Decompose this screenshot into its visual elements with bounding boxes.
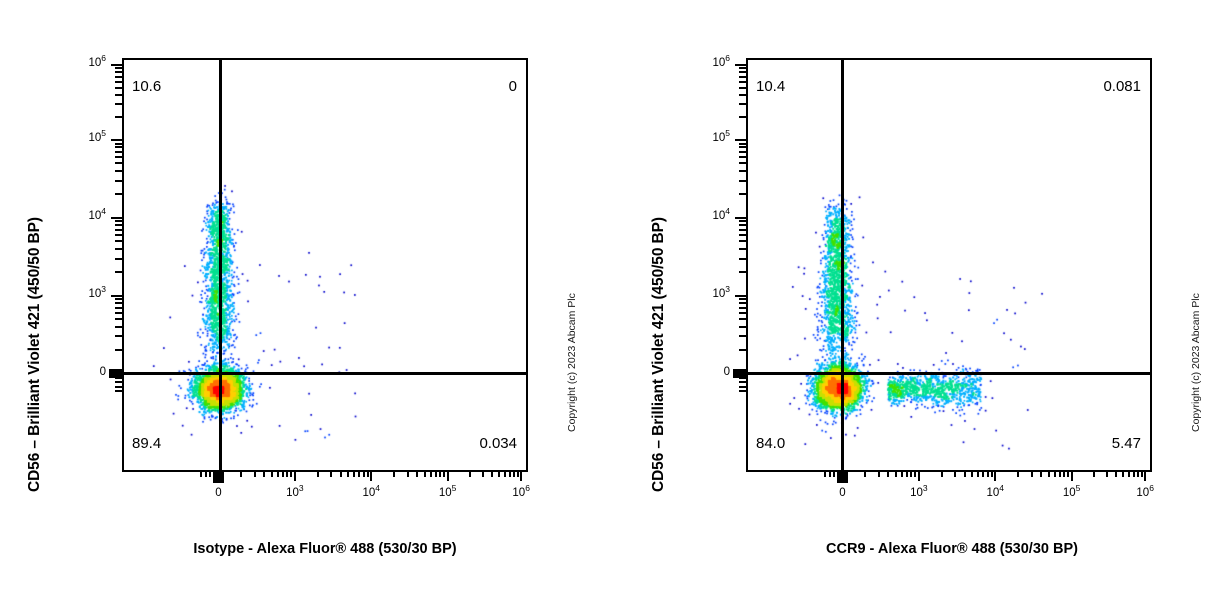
x-tick-10e5 bbox=[1071, 470, 1073, 481]
y-tick-minor bbox=[115, 349, 122, 351]
x-tick-minor bbox=[1115, 470, 1117, 477]
quadrant-stat-lower-right-right: 5.47 bbox=[1112, 435, 1141, 452]
y-tick-minor bbox=[115, 240, 122, 242]
x-tick-minor bbox=[367, 470, 369, 477]
y-tick-minor bbox=[739, 170, 746, 172]
y-tick-minor bbox=[115, 71, 122, 73]
x-tick-label-0: 0 bbox=[198, 487, 238, 499]
y-tick-minor bbox=[115, 76, 122, 78]
x-tick-label-10e5: 105 bbox=[1052, 487, 1092, 499]
x-tick-minor bbox=[290, 470, 292, 477]
scatter-canvas-wrap-left bbox=[124, 60, 526, 470]
y-tick-10e6 bbox=[735, 64, 746, 66]
x-tick-minor bbox=[263, 470, 265, 477]
y-tick-minor bbox=[739, 326, 746, 328]
x-tick-minor bbox=[200, 470, 202, 477]
x-tick-label-10e4: 104 bbox=[351, 487, 391, 499]
y-axis-title-right: CD56 – Brilliant Violet 421 (450/50 BP) bbox=[650, 217, 668, 492]
x-tick-minor bbox=[416, 470, 418, 477]
y-tick-minor bbox=[739, 151, 746, 153]
y-tick-minor bbox=[115, 335, 122, 337]
x-tick-minor bbox=[482, 470, 484, 477]
x-tick-minor bbox=[330, 470, 332, 477]
x-tick-minor bbox=[271, 470, 273, 477]
quadrant-horizontal-line-left bbox=[124, 372, 526, 375]
x-tick-minor bbox=[1067, 470, 1069, 477]
x-tick-minor bbox=[240, 470, 242, 477]
x-tick-minor bbox=[901, 470, 903, 477]
x-tick-10e6 bbox=[520, 470, 522, 481]
x-tick-minor bbox=[878, 470, 880, 477]
x-tick-minor bbox=[282, 470, 284, 477]
x-tick-minor bbox=[977, 470, 979, 477]
y-tick-minor bbox=[115, 162, 122, 164]
x-tick-10e3 bbox=[294, 470, 296, 481]
y-tick-minor bbox=[115, 146, 122, 148]
y-tick-minor bbox=[739, 224, 746, 226]
y-tick-label-10e3: 103 bbox=[694, 288, 730, 300]
x-tick-minor bbox=[1128, 470, 1130, 477]
y-tick-minor bbox=[739, 307, 746, 309]
y-tick-minor bbox=[739, 271, 746, 273]
x-tick-minor bbox=[1106, 470, 1108, 477]
y-tick-minor bbox=[115, 307, 122, 309]
y-tick-minor bbox=[115, 248, 122, 250]
plot-panel-isotype: CD56 – Brilliant Violet 421 (450/50 BP) … bbox=[0, 0, 609, 600]
y-tick-minor bbox=[115, 326, 122, 328]
x-tick-10e6 bbox=[1144, 470, 1146, 481]
plot-area-isotype: 10.6 0 89.4 0.034 bbox=[122, 58, 528, 472]
x-tick-minor bbox=[991, 470, 993, 477]
y-tick-minor bbox=[115, 234, 122, 236]
y-tick-minor bbox=[739, 76, 746, 78]
x-tick-minor bbox=[1031, 470, 1033, 477]
y-tick-minor bbox=[115, 87, 122, 89]
x-tick-10e5 bbox=[447, 470, 449, 481]
x-tick-minor bbox=[829, 470, 831, 477]
quadrant-stat-lower-left-right: 84.0 bbox=[756, 435, 785, 452]
scatter-canvas-right bbox=[748, 60, 1150, 470]
quadrant-horizontal-line-right bbox=[748, 372, 1150, 375]
y-tick-minor bbox=[115, 116, 122, 118]
x-tick-minor bbox=[887, 470, 889, 477]
y-tick-label-10e4: 104 bbox=[70, 210, 106, 222]
y-tick-minor bbox=[739, 156, 746, 158]
x-tick-minor bbox=[435, 470, 437, 477]
x-tick-minor bbox=[1017, 470, 1019, 477]
x-tick-minor bbox=[443, 470, 445, 477]
y-tick-minor bbox=[739, 248, 746, 250]
copyright-label-left: Copyright (c) 2023 Abcam Plc bbox=[566, 293, 578, 432]
y-tick-minor bbox=[739, 81, 746, 83]
x-tick-minor bbox=[358, 470, 360, 477]
x-tick-minor bbox=[254, 470, 256, 477]
x-tick-minor bbox=[340, 470, 342, 477]
x-axis-title-right: CCR9 - Alexa Fluor® 488 (530/30 BP) bbox=[752, 541, 1152, 557]
x-tick-minor bbox=[205, 470, 207, 477]
y-tick-minor bbox=[115, 193, 122, 195]
y-tick-minor bbox=[115, 103, 122, 105]
x-tick-minor bbox=[1133, 470, 1135, 477]
y-tick-label-10e3: 103 bbox=[70, 288, 106, 300]
y-tick-minor bbox=[739, 71, 746, 73]
y-tick-minor bbox=[115, 312, 122, 314]
y-tick-minor bbox=[739, 103, 746, 105]
x-tick-minor bbox=[277, 470, 279, 477]
scatter-canvas-wrap-right bbox=[748, 60, 1150, 470]
x-tick-label-10e6: 106 bbox=[501, 487, 541, 499]
y-tick-minor bbox=[115, 67, 122, 69]
y-tick-minor bbox=[739, 229, 746, 231]
y-tick-minor bbox=[739, 67, 746, 69]
y-tick-minor bbox=[115, 381, 122, 383]
x-tick-minor bbox=[1093, 470, 1095, 477]
x-tick-minor bbox=[407, 470, 409, 477]
y-tick-minor bbox=[115, 224, 122, 226]
plot-panel-ccr9: CD56 – Brilliant Violet 421 (450/50 BP) … bbox=[610, 0, 1219, 600]
x-tick-minor bbox=[914, 470, 916, 477]
x-tick-minor bbox=[971, 470, 973, 477]
y-tick-10e5 bbox=[735, 139, 746, 141]
y-tick-minor bbox=[115, 258, 122, 260]
x-tick-minor bbox=[504, 470, 506, 477]
y-tick-label-0: 0 bbox=[694, 366, 730, 378]
y-tick-minor bbox=[115, 302, 122, 304]
y-tick-minor bbox=[739, 94, 746, 96]
x-tick-minor bbox=[837, 470, 839, 477]
x-tick-minor bbox=[1122, 470, 1124, 477]
quadrant-vertical-line-right bbox=[841, 60, 844, 470]
x-tick-minor bbox=[941, 470, 943, 477]
y-tick-minor bbox=[115, 151, 122, 153]
x-tick-minor bbox=[439, 470, 441, 477]
x-tick-minor bbox=[1048, 470, 1050, 477]
quadrant-stat-lower-right-left: 0.034 bbox=[479, 435, 517, 452]
x-tick-minor bbox=[469, 470, 471, 477]
x-tick-minor bbox=[824, 470, 826, 477]
y-tick-minor bbox=[739, 240, 746, 242]
quadrant-stat-upper-right-left: 0 bbox=[509, 78, 517, 95]
x-tick-minor bbox=[910, 470, 912, 477]
x-tick-minor bbox=[353, 470, 355, 477]
x-tick-minor bbox=[513, 470, 515, 477]
y-tick-minor bbox=[115, 156, 122, 158]
quadrant-stat-upper-right-right: 0.081 bbox=[1103, 78, 1141, 95]
x-tick-minor bbox=[954, 470, 956, 477]
y-tick-minor bbox=[739, 162, 746, 164]
y-tick-minor bbox=[115, 377, 122, 379]
x-tick-minor bbox=[286, 470, 288, 477]
x-tick-minor bbox=[213, 470, 215, 477]
y-tick-10e5 bbox=[111, 139, 122, 141]
y-tick-minor bbox=[739, 298, 746, 300]
y-tick-minor bbox=[739, 390, 746, 392]
x-axis-title-left: Isotype - Alexa Fluor® 488 (530/30 BP) bbox=[125, 541, 525, 557]
y-tick-10e4 bbox=[735, 217, 746, 219]
plot-area-ccr9: 10.4 0.081 84.0 5.47 bbox=[746, 58, 1152, 472]
y-tick-minor bbox=[739, 377, 746, 379]
x-tick-minor bbox=[509, 470, 511, 477]
x-tick-10e4 bbox=[370, 470, 372, 481]
y-tick-minor bbox=[115, 271, 122, 273]
y-tick-minor bbox=[115, 94, 122, 96]
y-tick-minor bbox=[739, 381, 746, 383]
y-tick-minor bbox=[739, 193, 746, 195]
x-tick-label-10e3: 103 bbox=[275, 487, 315, 499]
y-tick-label-10e5: 105 bbox=[694, 132, 730, 144]
x-tick-minor bbox=[430, 470, 432, 477]
quadrant-stat-upper-left-left: 10.6 bbox=[132, 78, 161, 95]
x-tick-minor bbox=[982, 470, 984, 477]
y-tick-minor bbox=[739, 312, 746, 314]
y-tick-minor bbox=[739, 258, 746, 260]
y-tick-minor bbox=[739, 116, 746, 118]
y-tick-minor bbox=[739, 318, 746, 320]
y-tick-minor bbox=[739, 180, 746, 182]
quadrant-stat-lower-left-left: 89.4 bbox=[132, 435, 161, 452]
x-tick-minor bbox=[1054, 470, 1056, 477]
x-tick-minor bbox=[498, 470, 500, 477]
y-tick-minor bbox=[739, 220, 746, 222]
y-tick-label-10e6: 106 bbox=[70, 57, 106, 69]
y-tick-10e3 bbox=[111, 295, 122, 297]
y-tick-minor bbox=[115, 220, 122, 222]
y-tick-label-10e4: 104 bbox=[694, 210, 730, 222]
x-tick-minor bbox=[491, 470, 493, 477]
quadrant-stat-upper-left-right: 10.4 bbox=[756, 78, 785, 95]
x-tick-label-10e6: 106 bbox=[1125, 487, 1165, 499]
y-tick-label-10e6: 106 bbox=[694, 57, 730, 69]
x-tick-minor bbox=[833, 470, 835, 477]
y-tick-minor bbox=[739, 335, 746, 337]
y-tick-10e4 bbox=[111, 217, 122, 219]
y-tick-minor bbox=[115, 390, 122, 392]
x-tick-label-10e4: 104 bbox=[975, 487, 1015, 499]
y-axis-title-left: CD56 – Brilliant Violet 421 (450/50 BP) bbox=[26, 217, 44, 492]
y-tick-minor bbox=[115, 81, 122, 83]
y-tick-minor bbox=[739, 349, 746, 351]
x-tick-minor bbox=[1063, 470, 1065, 477]
x-tick-10e4 bbox=[994, 470, 996, 481]
x-tick-minor bbox=[517, 470, 519, 477]
x-tick-label-10e5: 105 bbox=[428, 487, 468, 499]
y-tick-minor bbox=[115, 180, 122, 182]
y-tick-minor bbox=[739, 234, 746, 236]
x-tick-minor bbox=[347, 470, 349, 477]
x-tick-minor bbox=[964, 470, 966, 477]
x-tick-minor bbox=[1137, 470, 1139, 477]
x-tick-minor bbox=[1141, 470, 1143, 477]
x-tick-minor bbox=[424, 470, 426, 477]
y-tick-minor bbox=[115, 318, 122, 320]
y-tick-minor bbox=[739, 143, 746, 145]
x-tick-10e3 bbox=[918, 470, 920, 481]
y-tick-10e6 bbox=[111, 64, 122, 66]
x-tick-minor bbox=[895, 470, 897, 477]
x-tick-minor bbox=[1059, 470, 1061, 477]
x-tick-minor bbox=[987, 470, 989, 477]
y-tick-minor bbox=[115, 143, 122, 145]
x-tick-minor bbox=[906, 470, 908, 477]
y-tick-minor bbox=[739, 87, 746, 89]
y-tick-minor bbox=[739, 146, 746, 148]
x-tick-minor bbox=[317, 470, 319, 477]
x-tick-label-0: 0 bbox=[822, 487, 862, 499]
x-tick-minor bbox=[209, 470, 211, 477]
x-tick-label-10e3: 103 bbox=[899, 487, 939, 499]
y-tick-10e3 bbox=[735, 295, 746, 297]
y-tick-label-10e5: 105 bbox=[70, 132, 106, 144]
flow-cytometry-figure: CD56 – Brilliant Violet 421 (450/50 BP) … bbox=[0, 0, 1219, 600]
quadrant-vertical-line-left bbox=[219, 60, 222, 470]
y-tick-minor bbox=[115, 298, 122, 300]
x-tick-minor bbox=[1040, 470, 1042, 477]
copyright-label-right: Copyright (c) 2023 Abcam Plc bbox=[1190, 293, 1202, 432]
y-tick-minor bbox=[115, 229, 122, 231]
y-tick-minor bbox=[115, 170, 122, 172]
x-tick-minor bbox=[363, 470, 365, 477]
y-tick-label-0: 0 bbox=[70, 366, 106, 378]
scatter-canvas-left bbox=[124, 60, 526, 470]
y-tick-minor bbox=[739, 302, 746, 304]
y-tick-minor bbox=[739, 386, 746, 388]
x-tick-minor bbox=[864, 470, 866, 477]
y-tick-minor bbox=[115, 386, 122, 388]
x-tick-minor bbox=[393, 470, 395, 477]
